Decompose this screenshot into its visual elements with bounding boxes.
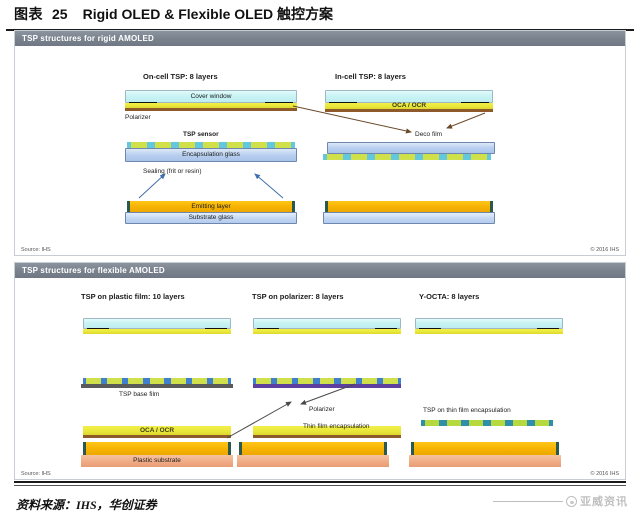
caption-in-cell-tsp: In-cell TSP: 8 layers <box>335 72 406 81</box>
layer-emitting-left: Emitting layer <box>127 201 295 212</box>
layer-emitting-b <box>239 442 387 455</box>
layer-substrate-glass: Substrate glass <box>125 212 297 224</box>
bottom-divider-thin <box>14 485 626 486</box>
rigid-copyright: © 2016 IHS <box>590 247 619 253</box>
layer-emitting-right <box>325 201 493 212</box>
layer-plastic-substrate-b <box>237 455 389 467</box>
panel-flexible-body: TSP on plastic film: 10 layers TSP on po… <box>15 278 625 479</box>
layer-tsp-base-film <box>81 384 233 388</box>
layer-polarizer-b <box>253 384 401 388</box>
label-cover-window: Cover window <box>126 93 296 100</box>
label-emitting-layer: Emitting layer <box>130 203 292 210</box>
label-plastic-substrate: Plastic substrate <box>81 458 233 465</box>
flexible-source: Source: IHS <box>21 471 51 477</box>
title-label: 图表 <box>14 4 43 24</box>
watermark: 亚威资讯 <box>493 493 628 509</box>
layer-encapsulation-glass: Encapsulation glass <box>125 148 297 162</box>
layer-plastic-substrate-a: Plastic substrate <box>81 455 233 467</box>
arrow-group-rigid <box>15 46 625 255</box>
panel-flexible-header: TSP structures for flexible AMOLED <box>15 263 625 278</box>
layer-polarizer-band-right <box>325 109 493 112</box>
layer-polarizer-band-b <box>253 435 401 438</box>
panel-rigid-body: On-cell TSP: 8 layers In-cell TSP: 8 lay… <box>15 46 625 255</box>
panel-flexible-amoled: TSP structures for flexible AMOLED TSP o… <box>14 262 626 480</box>
layer-tsp-sensor-right <box>323 154 491 160</box>
watermark-logo-icon <box>566 496 577 507</box>
caption-on-cell-tsp: On-cell TSP: 8 layers <box>143 72 218 81</box>
caption-y-octa: Y-OCTA: 8 layers <box>419 292 479 301</box>
layer-polarizer-band-left <box>125 108 297 111</box>
layer-tsp-sensor-c <box>421 420 553 426</box>
panel-rigid-amoled: TSP structures for rigid AMOLED On-cell … <box>14 30 626 256</box>
layer-oca-a <box>83 329 231 334</box>
title-number: 25 <box>52 6 68 22</box>
layer-emitting-a <box>83 442 231 455</box>
label-sealing: Sealing (frit or resin) <box>143 169 202 176</box>
layer-plastic-substrate-c <box>409 455 561 467</box>
label-thin-film-encapsulation: Thin film encapsulation <box>303 424 369 431</box>
layer-oca-b <box>253 329 401 334</box>
bottom-source-text: 资料来源：IHS，华创证券 <box>16 496 157 513</box>
caption-tsp-polarizer: TSP on polarizer: 8 layers <box>252 292 344 301</box>
watermark-text: 亚威资讯 <box>580 493 628 509</box>
panel-rigid-footer: Source: IHS © 2016 IHS <box>15 247 625 253</box>
panel-rigid-header: TSP structures for rigid AMOLED <box>15 31 625 46</box>
layer-emitting-c <box>411 442 559 455</box>
layer-oca-c <box>415 329 563 334</box>
bottom-divider-thick <box>14 481 626 483</box>
watermark-line <box>493 501 563 502</box>
caption-tsp-plastic-film: TSP on plastic film: 10 layers <box>81 292 185 301</box>
label-polarizer-flex: Polarizer <box>309 407 335 414</box>
label-substrate-glass: Substrate glass <box>126 215 296 222</box>
label-oca-ocr-flex: OCA / OCR <box>83 427 231 434</box>
page-title: 图表 25 Rigid OLED & Flexible OLED 触控方案 <box>0 0 640 26</box>
layer-substrate-glass-right <box>323 212 495 224</box>
layer-encapsulation-glass-right <box>327 142 495 154</box>
panel-flexible-footer: Source: IHS © 2016 IHS <box>15 471 625 477</box>
label-tsp-sensor: TSP sensor <box>183 132 219 139</box>
title-text: Rigid OLED & Flexible OLED 触控方案 <box>83 4 333 24</box>
layer-oca-ocr-a: OCA / OCR <box>83 426 231 435</box>
label-polarizer-left: Polarizer <box>125 115 151 122</box>
label-encapsulation-glass: Encapsulation glass <box>126 152 296 159</box>
label-tsp-base-film: TSP base film <box>119 392 159 399</box>
label-tsp-on-tfe: TSP on thin film encapsulation <box>423 408 511 415</box>
layer-polarizer-band-a <box>83 435 231 438</box>
label-deco-film: Deco film <box>415 132 442 139</box>
rigid-source: Source: IHS <box>21 247 51 253</box>
flexible-copyright: © 2016 IHS <box>590 471 619 477</box>
